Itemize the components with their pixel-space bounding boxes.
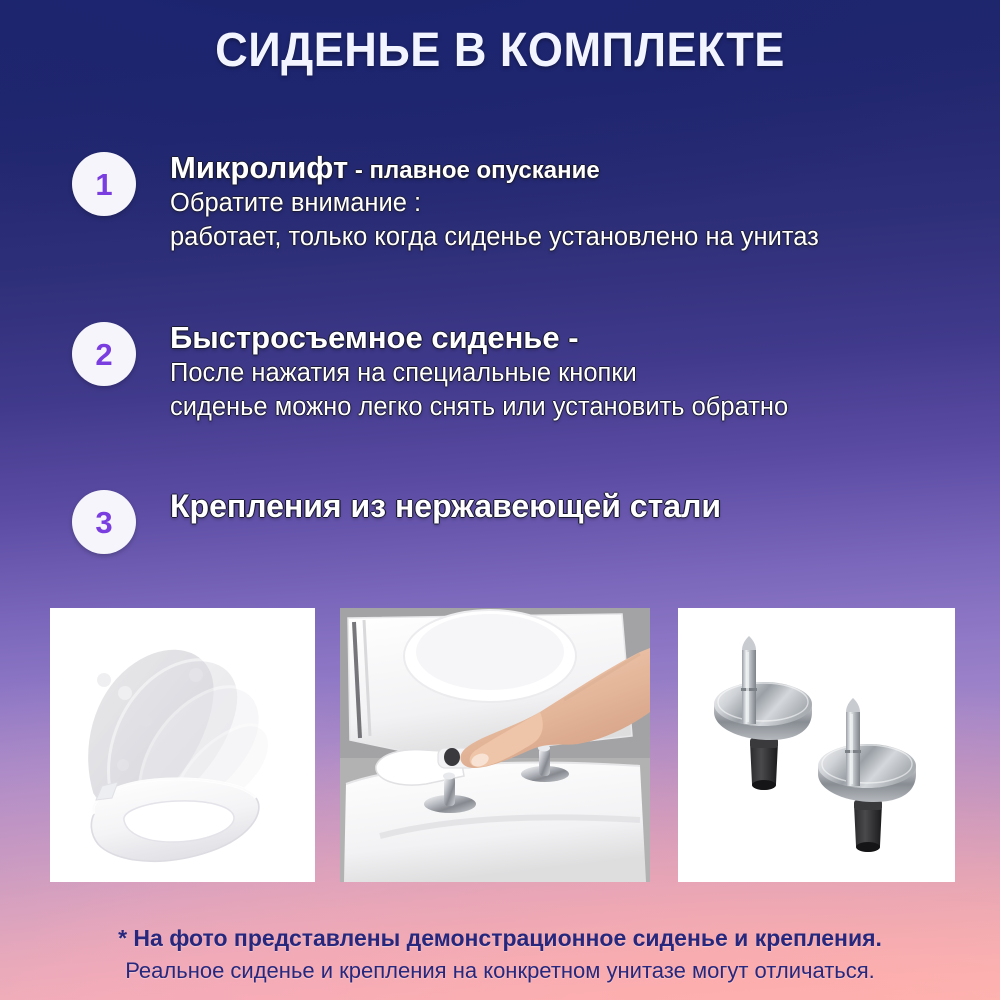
feature-item-1: 1 Микролифт - плавное опускание Обратите… [72,150,972,254]
footer-line-1: * На фото представлены демонстрационное … [0,922,1000,955]
feature-item-2: 2 Быстросъемное сиденье - После нажатия … [72,320,972,424]
toilet-seat-softclose-photo [50,608,315,882]
feature-heading-2: Быстросъемное сиденье - [170,320,972,356]
feature-item-3: 3 Крепления из нержавеющей стали [72,488,972,525]
feature-heading-main-3: Крепления из нержавеющей стали [170,488,721,524]
feature-heading-main-1: Микролифт [170,150,348,185]
toilet-seat-softclose-illustration [50,608,315,882]
feature-heading-3: Крепления из нержавеющей стали [170,488,972,525]
photo-strip [50,608,955,882]
feature-line-2-2: сиденье можно легко снять или установить… [170,390,972,424]
feature-body-1: Микролифт - плавное опускание Обратите в… [170,150,972,254]
feature-line-1-2: работает, только когда сиденье установле… [170,220,972,254]
footer-disclaimer: * На фото представлены демонстрационное … [0,922,1000,986]
footer-line-2: Реальное сиденье и крепления на конкретн… [0,955,1000,986]
seat-quick-release-photo [340,608,650,882]
feature-number-badge-2: 2 [72,322,136,386]
feature-number-badge-3: 3 [72,490,136,554]
page-title: СИДЕНЬЕ В КОМПЛЕКТЕ [30,26,970,76]
feature-heading-suffix-1: - плавное опускание [348,157,600,184]
feature-body-2: Быстросъемное сиденье - После нажатия на… [170,320,972,424]
stainless-fixings-illustration [678,608,955,882]
seat-quick-release-illustration [340,608,650,882]
stainless-fixings-photo [678,608,955,882]
feature-body-3: Крепления из нержавеющей стали [170,488,972,525]
feature-line-1-1: Обратите внимание : [170,186,972,220]
feature-number-badge-1: 1 [72,152,136,216]
feature-line-2-1: После нажатия на специальные кнопки [170,356,972,390]
promo-poster: СИДЕНЬЕ В КОМПЛЕКТЕ 1 Микролифт - плавно… [0,0,1000,1000]
feature-heading-1: Микролифт - плавное опускание [170,150,972,186]
feature-heading-main-2: Быстросъемное сиденье - [170,320,579,355]
